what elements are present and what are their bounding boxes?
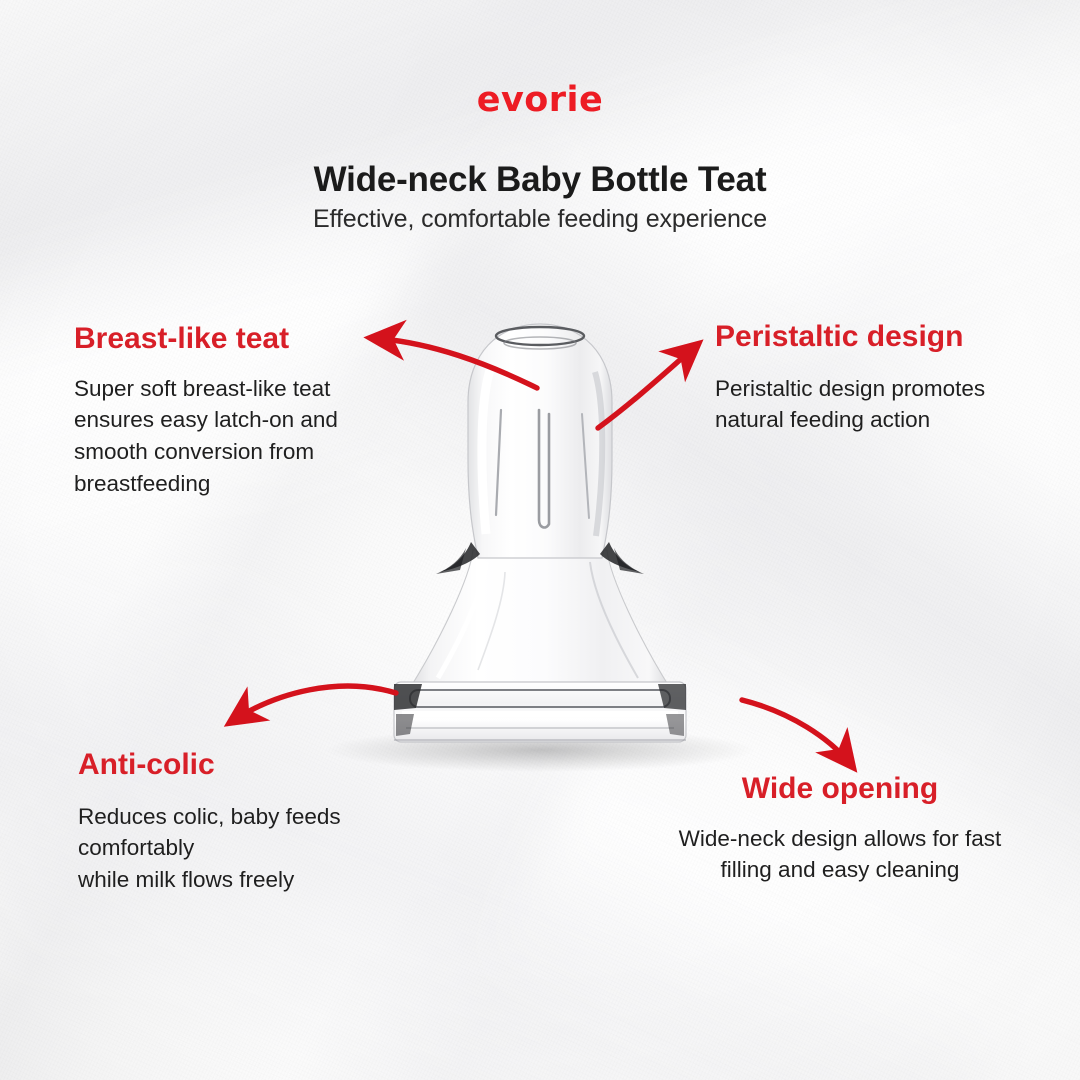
feature-callout-peristaltic-design: Peristaltic design Peristaltic design pr… — [715, 320, 1045, 436]
brand-logo: evorie — [0, 80, 1080, 120]
feature-callout-anti-colic: Anti-colic Reduces colic, baby feeds com… — [78, 748, 408, 896]
feature-heading: Anti-colic — [78, 748, 408, 783]
page-subtitle: Effective, comfortable feeding experienc… — [0, 205, 1080, 234]
feature-body: Reduces colic, baby feeds comfortably wh… — [78, 801, 408, 897]
feature-heading: Breast-like teat — [74, 322, 404, 357]
feature-heading: Wide opening — [645, 772, 1035, 807]
feature-body: Wide-neck design allows for fast filling… — [660, 823, 1020, 887]
feature-body: Peristaltic design promotes natural feed… — [715, 373, 1045, 437]
feature-body: Super soft breast-like teat ensures easy… — [74, 373, 404, 501]
page-title: Wide-neck Baby Bottle Teat — [0, 160, 1080, 200]
feature-callout-breast-like-teat: Breast-like teat Super soft breast-like … — [74, 322, 404, 500]
infographic-canvas: evorie Wide-neck Baby Bottle Teat Effect… — [0, 0, 1080, 1080]
feature-heading: Peristaltic design — [715, 320, 1045, 355]
feature-callout-wide-opening: Wide opening Wide-neck design allows for… — [645, 772, 1035, 886]
